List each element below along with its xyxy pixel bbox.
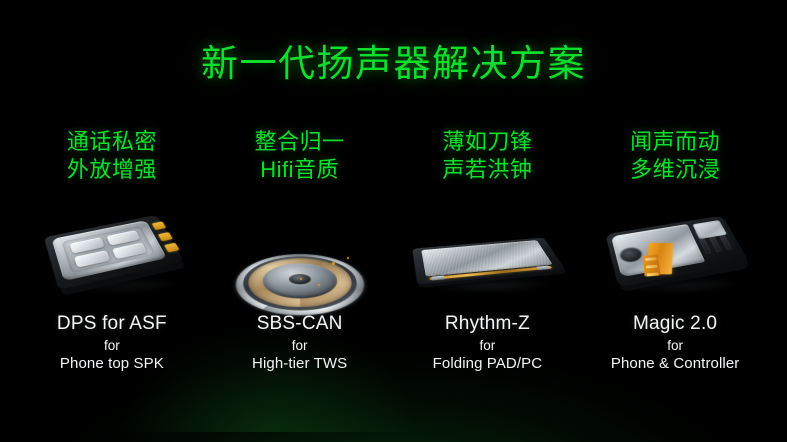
feature-line-2: 外放增强 [67, 156, 157, 184]
feature-text: 闻声而动 多维沉浸 [630, 128, 720, 186]
product-image-module-with-ribbon-cable [589, 200, 761, 296]
caption-sub: Folding PAD/PC [433, 355, 543, 374]
product-caption: Rhythm-Z for Folding PAD/PC [433, 312, 543, 374]
slide-title: 新一代扬声器解决方案 [0, 42, 787, 86]
caption-main: Magic 2.0 [611, 312, 740, 336]
feature-line-1: 薄如刀锋 [442, 128, 532, 156]
presentation-slide: 新一代扬声器解决方案 通话私密 外放增强 [0, 0, 787, 442]
feature-line-1: 闻声而动 [630, 128, 720, 156]
caption-main: SBS-CAN [252, 312, 347, 336]
product-image-thin-blade-module [401, 200, 573, 296]
product-column-sbs-can: 整合归一 Hifi音质 SBS-CAN for [206, 128, 394, 388]
product-caption: Magic 2.0 for Phone & Controller [611, 312, 740, 374]
feature-line-1: 整合归一 [255, 128, 345, 156]
feature-line-1: 通话私密 [67, 128, 157, 156]
product-columns: 通话私密 外放增强 [18, 128, 769, 388]
feature-line-2: 多维沉浸 [630, 156, 720, 184]
feature-line-2: Hifi音质 [255, 156, 345, 184]
caption-sub: High-tier TWS [252, 355, 347, 374]
caption-for: for [252, 337, 347, 354]
feature-line-2: 声若洪钟 [442, 156, 532, 184]
caption-for: for [611, 337, 740, 354]
caption-main: DPS for ASF [57, 312, 167, 336]
product-caption: DPS for ASF for Phone top SPK [57, 312, 167, 374]
product-column-magic-2-0: 闻声而动 多维沉浸 [581, 128, 769, 388]
product-column-rhythm-z: 薄如刀锋 声若洪钟 Rhythm-Z for Folding PAD/PC [394, 128, 582, 388]
caption-main: Rhythm-Z [433, 312, 543, 336]
caption-for: for [433, 337, 543, 354]
product-column-dps-for-asf: 通话私密 外放增强 [18, 128, 206, 388]
caption-for: for [57, 337, 167, 354]
product-image-round-speaker-driver [214, 200, 386, 296]
product-caption: SBS-CAN for High-tier TWS [252, 312, 347, 374]
feature-text: 整合归一 Hifi音质 [255, 128, 345, 186]
product-image-rectangular-speaker-module [26, 200, 198, 296]
feature-text: 通话私密 外放增强 [67, 128, 157, 186]
caption-sub: Phone top SPK [57, 355, 167, 374]
feature-text: 薄如刀锋 声若洪钟 [442, 128, 532, 186]
caption-sub: Phone & Controller [611, 355, 740, 374]
